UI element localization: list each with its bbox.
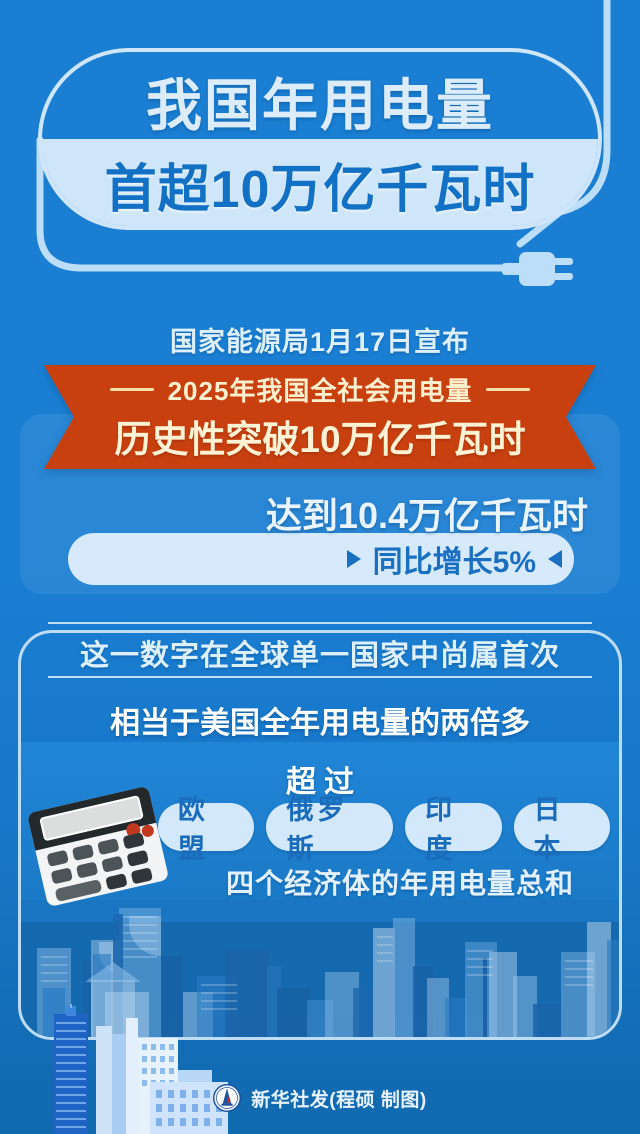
lower-panel-title: 这一数字在全球单一国家中尚属首次 xyxy=(0,632,640,674)
headline-line1: 我国年用电量 xyxy=(42,60,598,143)
infographic-poster: 我国年用电量 首超10万亿千瓦时 国家能源局1月17日宣布 xyxy=(0,0,640,1134)
calculator-icon xyxy=(20,786,180,906)
country-pill-russia[interactable]: 俄罗斯 xyxy=(266,803,393,851)
panel-rule-top xyxy=(48,622,592,624)
growth-value: 同比增长5% xyxy=(347,537,562,581)
xinhua-logo-icon xyxy=(213,1084,241,1112)
dash-right-icon xyxy=(486,388,530,391)
orange-ribbon-banner: 2025年我国全社会用电量 历史性突破10万亿千瓦时 xyxy=(44,365,596,469)
triangle-right-icon xyxy=(347,550,361,568)
headline-line2: 首超10万亿千瓦时 xyxy=(42,142,598,226)
reached-value: 达到10.4万亿千瓦时 xyxy=(266,487,588,539)
growth-label: 同比增长5% xyxy=(373,537,536,581)
dash-left-icon xyxy=(110,388,154,391)
country-pill-japan[interactable]: 日本 xyxy=(514,803,610,851)
triangle-left-icon xyxy=(548,550,562,568)
footer-credit-text: 新华社发(程硕 制图) xyxy=(251,1085,426,1112)
headline-pill: 我国年用电量 首超10万亿千瓦时 xyxy=(38,48,602,230)
country-pill-india[interactable]: 印度 xyxy=(405,803,501,851)
panel-rule-bottom xyxy=(48,676,592,678)
ribbon-text-group: 2025年我国全社会用电量 历史性突破10万亿千瓦时 xyxy=(44,365,596,469)
ribbon-kicker-row: 2025年我国全社会用电量 xyxy=(110,371,531,408)
power-plug-icon xyxy=(519,252,555,286)
announcement-line: 国家能源局1月17日宣布 xyxy=(0,320,640,359)
country-pill-group: 欧盟 俄罗斯 印度 日本 xyxy=(158,803,610,851)
comparison-line: 相当于美国全年用电量的两倍多 xyxy=(0,698,640,742)
ribbon-kicker: 2025年我国全社会用电量 xyxy=(168,371,473,408)
ribbon-main: 历史性突破10万亿千瓦时 xyxy=(114,409,525,463)
footer-credit: 新华社发(程硕 制图) xyxy=(0,1078,640,1118)
